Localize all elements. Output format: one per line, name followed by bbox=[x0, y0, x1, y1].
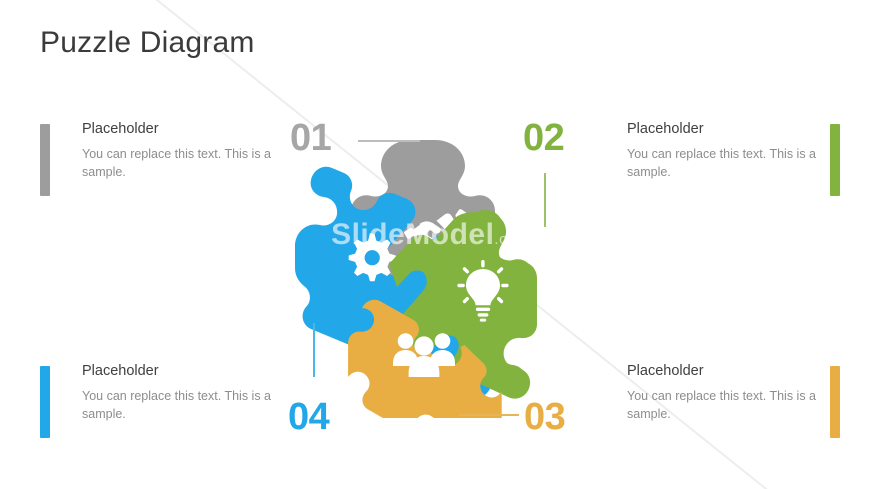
accent-bar-04 bbox=[40, 366, 50, 438]
heading-02: Placeholder bbox=[627, 121, 822, 137]
accent-bar-02 bbox=[830, 124, 840, 196]
step-number-04: 04 bbox=[288, 396, 329, 439]
description-02: You can replace this text. This is a sam… bbox=[627, 145, 822, 181]
description-04: You can replace this text. This is a sam… bbox=[82, 387, 277, 423]
connector-line-04 bbox=[313, 323, 315, 377]
page-title: Puzzle Diagram bbox=[40, 26, 255, 60]
description-01: You can replace this text. This is a sam… bbox=[82, 145, 277, 181]
connector-line-02 bbox=[544, 173, 546, 227]
accent-bar-01 bbox=[40, 124, 50, 196]
description-03: You can replace this text. This is a sam… bbox=[627, 387, 822, 423]
puzzle-diagram bbox=[285, 128, 575, 418]
step-number-01: 01 bbox=[290, 117, 331, 160]
step-number-03: 03 bbox=[524, 396, 565, 439]
accent-bar-03 bbox=[830, 366, 840, 438]
connector-line-03 bbox=[459, 414, 519, 416]
heading-04: Placeholder bbox=[82, 363, 277, 379]
connector-line-01 bbox=[358, 140, 420, 142]
heading-03: Placeholder bbox=[627, 363, 822, 379]
step-number-02: 02 bbox=[523, 117, 564, 160]
slide-canvas: Puzzle Diagram bbox=[0, 0, 870, 489]
heading-01: Placeholder bbox=[82, 121, 277, 137]
